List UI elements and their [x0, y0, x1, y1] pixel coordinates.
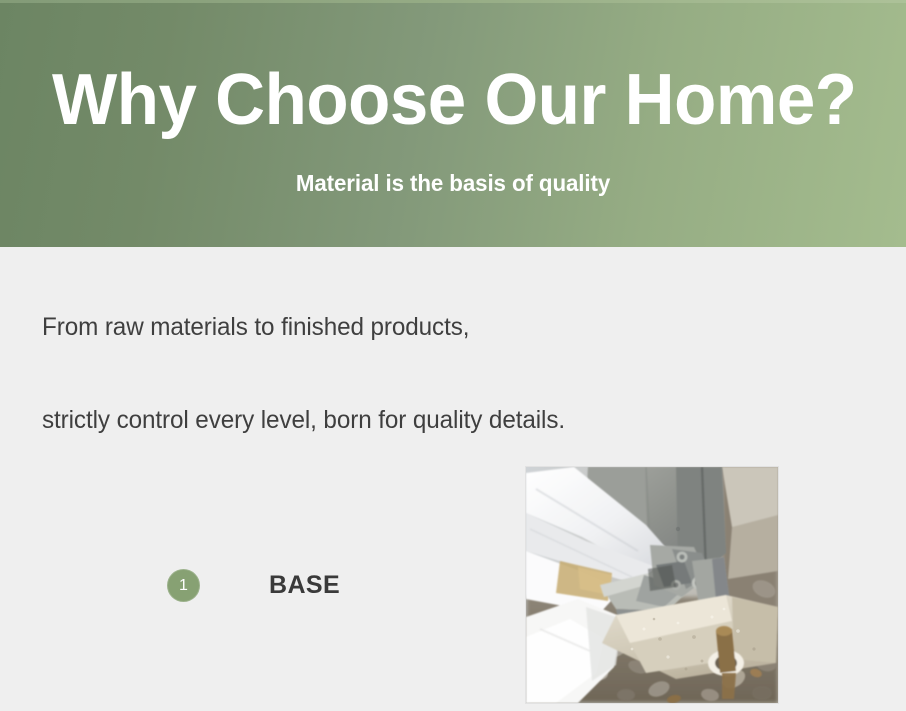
- body-text-line-1: From raw materials to finished products,: [42, 311, 469, 343]
- slide-header-band: Why Choose Our Home? Material is the bas…: [0, 0, 906, 247]
- feature-label-base: BASE: [269, 573, 340, 598]
- feature-list-item-base: 1 BASE: [167, 569, 340, 602]
- photo-illustration: [526, 467, 778, 703]
- product-photo-base-bracket: [526, 467, 778, 703]
- slide-canvas: Why Choose Our Home? Material is the bas…: [0, 0, 906, 711]
- header-top-highlight-strip: [0, 0, 906, 3]
- feature-number-badge: 1: [167, 569, 200, 602]
- page-subtitle: Material is the basis of quality: [14, 168, 893, 198]
- body-text-line-2: strictly control every level, born for q…: [42, 404, 565, 436]
- page-title: Why Choose Our Home?: [52, 58, 830, 142]
